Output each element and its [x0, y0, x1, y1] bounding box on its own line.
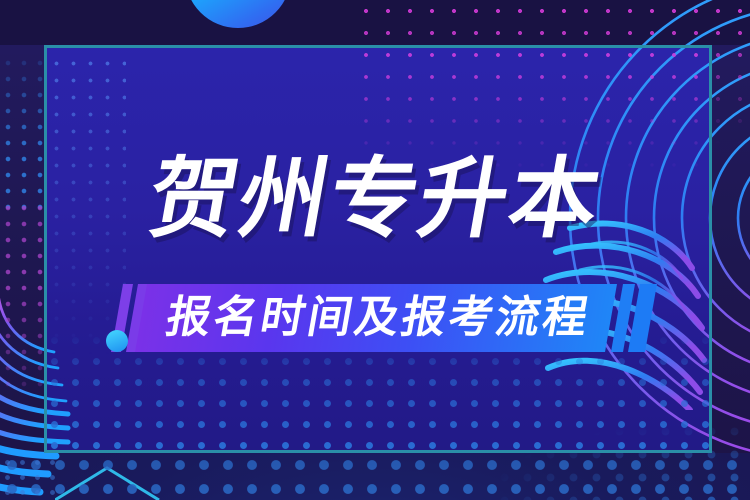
halftone-dots-bottom-outer: [0, 453, 750, 500]
bottom-chevron-decoration: [55, 462, 185, 500]
panel-right-margin: [712, 45, 750, 453]
subtitle-container: 报名时间及报考流程: [0, 278, 750, 358]
panel-left-margin: [0, 45, 44, 453]
halftone-dots-bottom-left: [0, 455, 60, 500]
top-circle-decoration: [185, 0, 291, 28]
page-title: 贺州专升本: [142, 155, 608, 243]
poster-banner: 贺州专升本 报名时间及报考流程: [0, 0, 750, 500]
page-subtitle: 报名时间及报考流程: [157, 296, 594, 340]
decorative-frame: [44, 45, 712, 453]
title-container: 贺州专升本: [0, 155, 750, 243]
